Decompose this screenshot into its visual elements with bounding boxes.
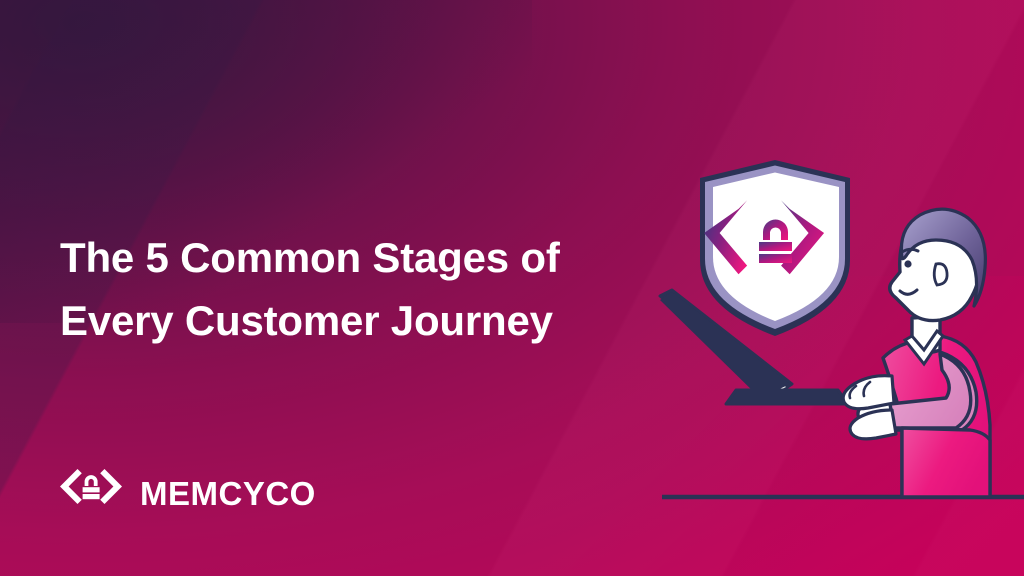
security-shield-icon <box>700 160 850 336</box>
headline-line-1: The 5 Common Stages of <box>60 226 660 289</box>
headline-line-2: Every Customer Journey <box>60 289 660 352</box>
angle-brackets-padlock-icon <box>58 465 124 521</box>
brand-logo[interactable]: MEMCYCO <box>58 465 316 521</box>
marketing-banner: The 5 Common Stages of Every Customer Jo… <box>0 0 1024 576</box>
page-title: The 5 Common Stages of Every Customer Jo… <box>60 226 660 352</box>
hero-illustration <box>640 140 1024 540</box>
brand-wordmark: MEMCYCO <box>140 477 316 510</box>
